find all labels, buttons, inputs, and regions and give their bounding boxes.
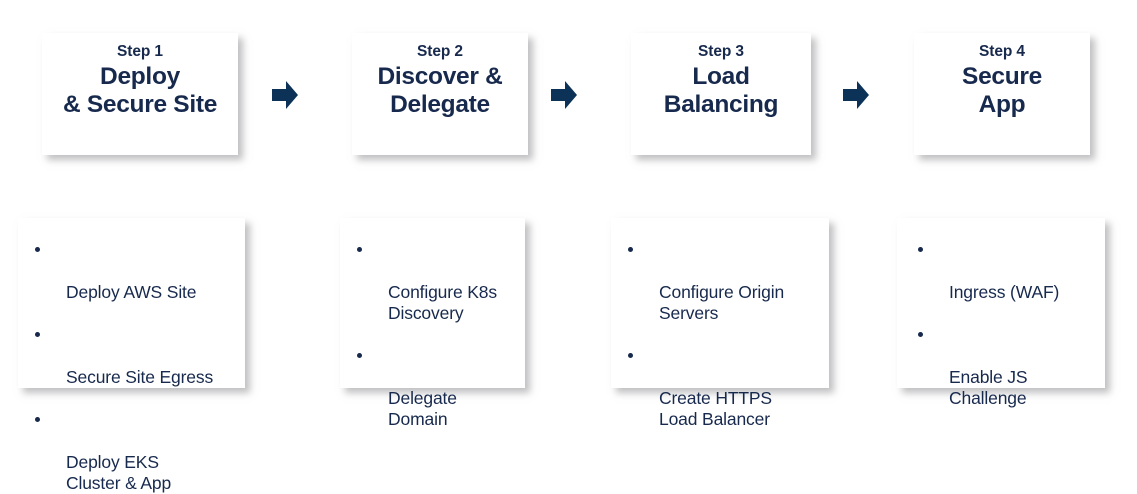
list-item-label: Ingress (WAF) bbox=[949, 282, 1059, 302]
list-item-label: Deploy AWS Site bbox=[66, 282, 196, 302]
bullet-card-2[interactable]: Configure K8s Discovery Delegate Domain bbox=[340, 218, 525, 388]
list-item-label: Deploy EKS Cluster & App bbox=[66, 452, 171, 493]
step-label-2: Step 2 bbox=[417, 42, 463, 62]
list-item[interactable]: Deploy AWS Site bbox=[66, 239, 245, 303]
bullet-list-4: Ingress (WAF) Enable JS Challenge bbox=[897, 239, 1105, 409]
bullet-list-3: Configure Origin Servers Create HTTPS Lo… bbox=[611, 239, 829, 431]
step-card-4[interactable]: Step 4 Secure App bbox=[914, 33, 1090, 155]
bullet-dot-icon bbox=[35, 247, 40, 252]
list-item-label: Secure Site Egress bbox=[66, 367, 213, 387]
list-item-label: Enable JS Challenge bbox=[949, 367, 1027, 408]
list-item[interactable]: Configure Origin Servers bbox=[659, 239, 829, 324]
bullet-card-1[interactable]: Deploy AWS Site Secure Site Egress Deplo… bbox=[18, 218, 245, 388]
step-card-1[interactable]: Step 1 Deploy & Secure Site bbox=[42, 33, 238, 155]
step-title-1: Deploy & Secure Site bbox=[63, 63, 217, 120]
bullet-dot-icon bbox=[918, 247, 923, 252]
step-card-3[interactable]: Step 3 Load Balancing bbox=[631, 33, 811, 155]
list-item-label: Configure K8s Discovery bbox=[388, 282, 497, 323]
process-flow-diagram: Step 1 Deploy & Secure Site Step 2 Disco… bbox=[0, 0, 1137, 423]
bullet-dot-icon bbox=[628, 247, 633, 252]
bullet-list-1: Deploy AWS Site Secure Site Egress Deplo… bbox=[18, 239, 245, 494]
list-item-label: Configure Origin Servers bbox=[659, 282, 784, 323]
list-item[interactable]: Deploy EKS Cluster & App bbox=[66, 409, 245, 494]
bullet-dot-icon bbox=[357, 353, 362, 358]
bullet-dot-icon bbox=[35, 332, 40, 337]
list-item[interactable]: Delegate Domain bbox=[388, 345, 525, 430]
list-item[interactable]: Enable JS Challenge bbox=[949, 324, 1105, 409]
step-title-3: Load Balancing bbox=[664, 63, 778, 120]
step-title-4: Secure App bbox=[962, 63, 1042, 120]
arrow-right-icon-2 bbox=[551, 81, 577, 109]
bullet-card-3[interactable]: Configure Origin Servers Create HTTPS Lo… bbox=[611, 218, 829, 388]
list-item[interactable]: Ingress (WAF) bbox=[949, 239, 1105, 303]
arrow-right-icon-3 bbox=[843, 81, 869, 109]
arrow-right-icon-1 bbox=[272, 81, 298, 109]
step-title-2: Discover & Delegate bbox=[377, 63, 502, 120]
bullet-dot-icon bbox=[35, 417, 40, 422]
step-card-2[interactable]: Step 2 Discover & Delegate bbox=[352, 33, 528, 155]
step-label-3: Step 3 bbox=[698, 42, 744, 62]
bullet-dot-icon bbox=[628, 353, 633, 358]
list-item-label: Create HTTPS Load Balancer bbox=[659, 388, 772, 429]
bullet-card-4[interactable]: Ingress (WAF) Enable JS Challenge bbox=[897, 218, 1105, 388]
bullet-dot-icon bbox=[357, 247, 362, 252]
list-item[interactable]: Configure K8s Discovery bbox=[388, 239, 525, 324]
step-label-4: Step 4 bbox=[979, 42, 1025, 62]
list-item[interactable]: Secure Site Egress bbox=[66, 324, 245, 388]
bullet-dot-icon bbox=[918, 332, 923, 337]
bullet-list-2: Configure K8s Discovery Delegate Domain bbox=[340, 239, 525, 431]
list-item[interactable]: Create HTTPS Load Balancer bbox=[659, 345, 829, 430]
step-label-1: Step 1 bbox=[117, 42, 163, 62]
list-item-label: Delegate Domain bbox=[388, 388, 457, 429]
